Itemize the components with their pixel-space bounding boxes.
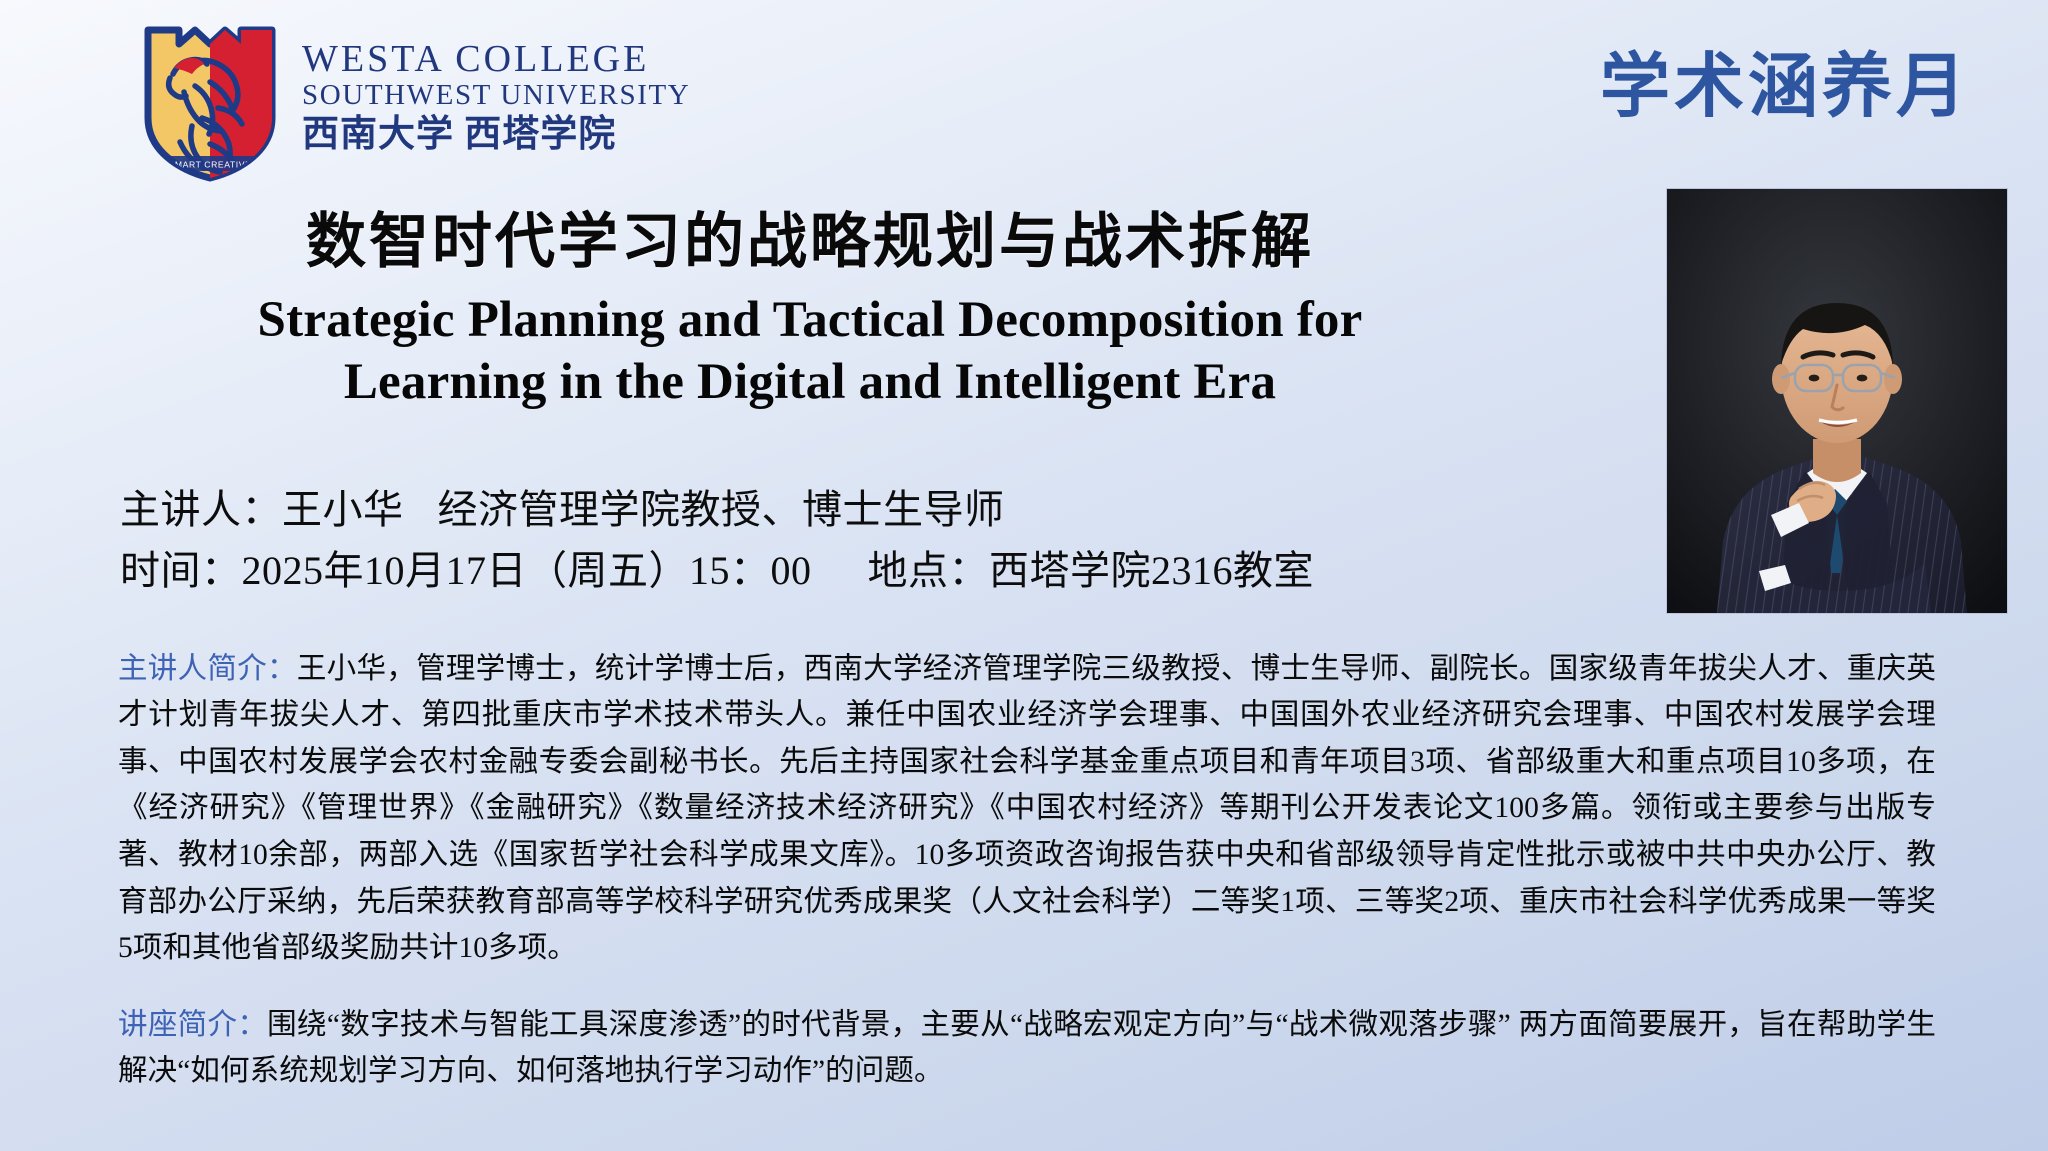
speaker-name: 王小华 xyxy=(282,487,404,532)
institution-logo: SMART CREATIVE WESTA COLLEGE SOUTHWEST U… xyxy=(140,22,690,182)
title-chinese: 数智时代学习的战略规划与战术拆解 xyxy=(0,206,1620,279)
academic-month-banner: 学术涵养月 xyxy=(1600,30,1970,131)
speaker-portrait xyxy=(1666,188,2008,614)
poster-body: 主讲人简介：王小华，管理学博士，统计学博士后，西南大学经济管理学院三级教授、博士… xyxy=(118,616,1936,1124)
poster-root: SMART CREATIVE WESTA COLLEGE SOUTHWEST U… xyxy=(0,0,2048,1151)
title-block: 数智时代学习的战略规划与战术拆解 Strategic Planning and … xyxy=(0,206,1620,414)
speaker-portrait-image xyxy=(1667,189,2007,613)
lecture-abstract-label: 讲座简介： xyxy=(118,1009,267,1041)
westa-college-crest: SMART CREATIVE xyxy=(140,22,280,182)
logo-line-westa-college: WESTA COLLEGE xyxy=(302,40,690,79)
title-english-line2: Learning in the Digital and Intelligent … xyxy=(0,351,1620,413)
title-english-line1: Strategic Planning and Tactical Decompos… xyxy=(0,289,1620,351)
lecture-abstract-text: 围绕“数字技术与智能工具深度渗透”的时代背景，主要从“战略宏观定方向”与“战术微… xyxy=(118,1009,1936,1088)
time-place-line: 时间：2025年10月17日（周五）15：00地点：西塔学院2316教室 xyxy=(120,541,1600,602)
logo-line-chinese: 西南大学 西塔学院 xyxy=(302,112,690,158)
speaker-bio-paragraph: 主讲人简介：王小华，管理学博士，统计学博士后，西南大学经济管理学院三级教授、博士… xyxy=(118,646,1936,972)
speaker-title: 经济管理学院教授、博士生导师 xyxy=(438,487,1005,532)
poster-header: SMART CREATIVE WESTA COLLEGE SOUTHWEST U… xyxy=(0,0,2048,190)
logo-wordmark: WESTA COLLEGE SOUTHWEST UNIVERSITY 西南大学 … xyxy=(302,22,690,158)
place-value: 西塔学院2316教室 xyxy=(989,548,1314,593)
time-label: 时间： xyxy=(120,548,242,593)
place-label: 地点： xyxy=(868,548,990,593)
speaker-bio-text: 王小华，管理学博士，统计学博士后，西南大学经济管理学院三级教授、博士生导师、副院… xyxy=(118,653,1936,965)
logo-line-southwest-university: SOUTHWEST UNIVERSITY xyxy=(302,79,690,112)
speaker-bio-label: 主讲人简介： xyxy=(118,653,297,685)
speaker-label: 主讲人： xyxy=(120,487,282,532)
lecture-abstract-paragraph: 讲座简介：围绕“数字技术与智能工具深度渗透”的时代背景，主要从“战略宏观定方向”… xyxy=(118,1002,1936,1095)
time-value: 2025年10月17日（周五）15：00 xyxy=(242,548,812,593)
event-meta: 主讲人：王小华经济管理学院教授、博士生导师 时间：2025年10月17日（周五）… xyxy=(120,480,1600,602)
speaker-line: 主讲人：王小华经济管理学院教授、博士生导师 xyxy=(120,480,1600,541)
